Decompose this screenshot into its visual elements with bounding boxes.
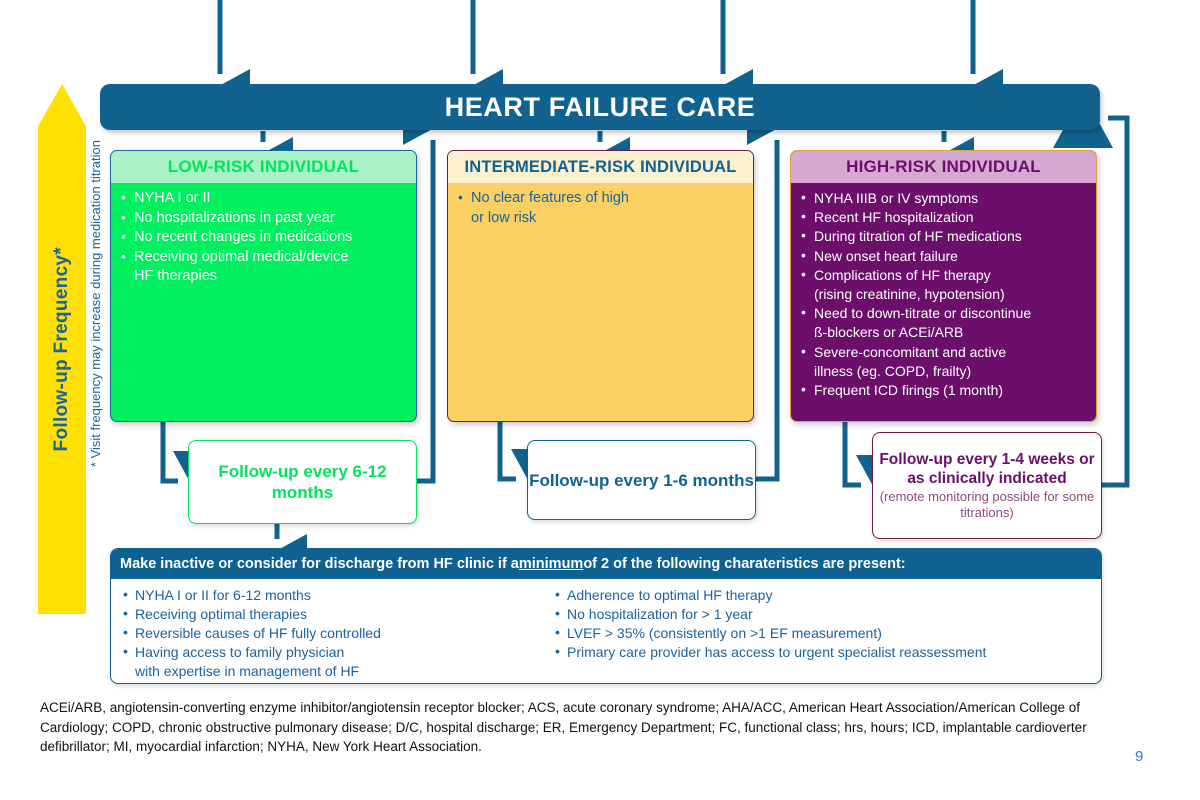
followup-frequency-label: Follow-up Frequency* (51, 247, 73, 451)
list-item: During titration of HF medications (801, 227, 1088, 246)
low-risk-body: NYHA I or II No hospitalizations in past… (111, 183, 416, 291)
intermediate-risk-bullet-list: No clear features of high or low risk (458, 189, 745, 228)
high-risk-bullet-list: NYHA IIIB or IV symptoms Recent HF hospi… (801, 189, 1088, 400)
visit-frequency-note: * Visit frequency may increase during me… (88, 140, 103, 467)
list-item: Adherence to optimal HF therapy (555, 586, 1101, 605)
list-item: Complications of HF therapy (rising crea… (801, 266, 1088, 304)
discharge-title-underlined: minimum (519, 556, 583, 572)
discharge-criteria-columns: NYHA I or II for 6-12 months Receiving o… (111, 579, 1101, 681)
page-number: 9 (1135, 748, 1143, 765)
followup-frequency-label-wrap: Follow-up Frequency* (38, 84, 86, 614)
list-item: Having access to family physician with e… (123, 643, 543, 681)
low-risk-box: LOW-RISK INDIVIDUAL NYHA I or II No hosp… (110, 150, 417, 422)
discharge-criteria-box: Make inactive or consider for discharge … (110, 548, 1102, 684)
abbreviations-footnote: ACEi/ARB, angiotensin-converting enzyme … (40, 698, 1120, 757)
intermediate-risk-box: INTERMEDIATE-RISK INDIVIDUAL No clear fe… (447, 150, 754, 422)
high-risk-followup-text: Follow-up every 1-4 weeks or as clinical… (873, 450, 1101, 488)
heart-failure-care-header: HEART FAILURE CARE (100, 84, 1100, 130)
discharge-right-list: Adherence to optimal HF therapy No hospi… (555, 586, 1101, 662)
intermediate-risk-heading: INTERMEDIATE-RISK INDIVIDUAL (448, 151, 753, 183)
discharge-title-after: of 2 of the following charateristics are… (583, 556, 905, 572)
list-item: LVEF > 35% (consistently on >1 EF measur… (555, 624, 1101, 643)
discharge-left-list: NYHA I or II for 6-12 months Receiving o… (123, 586, 543, 681)
discharge-right-column: Adherence to optimal HF therapy No hospi… (543, 586, 1101, 681)
low-risk-followup-text: Follow-up every 6-12 months (189, 461, 416, 503)
high-risk-heading: HIGH-RISK INDIVIDUAL (791, 151, 1096, 183)
list-item: Need to down-titrate or discontinue ß-bl… (801, 304, 1088, 342)
high-risk-body: NYHA IIIB or IV symptoms Recent HF hospi… (791, 183, 1096, 404)
header-title: HEART FAILURE CARE (445, 92, 756, 123)
high-risk-followup-box: Follow-up every 1-4 weeks or as clinical… (872, 432, 1102, 539)
low-risk-heading: LOW-RISK INDIVIDUAL (111, 151, 416, 183)
discharge-criteria-title: Make inactive or consider for discharge … (111, 549, 1101, 579)
list-item: No clear features of high or low risk (458, 189, 745, 228)
list-item: NYHA I or II for 6-12 months (123, 586, 543, 605)
list-item: Receiving optimal therapies (123, 605, 543, 624)
list-item: New onset heart failure (801, 247, 1088, 266)
intermediate-risk-body: No clear features of high or low risk (448, 183, 753, 232)
low-risk-bullet-list: NYHA I or II No hospitalizations in past… (121, 189, 408, 287)
list-item: Severe-concomitant and active illness (e… (801, 343, 1088, 381)
list-item: Recent HF hospitalization (801, 208, 1088, 227)
discharge-title-before: Make inactive or consider for discharge … (120, 556, 519, 572)
list-item: Primary care provider has access to urge… (555, 643, 1101, 662)
high-risk-followup-subtext: (remote monitoring possible for some tit… (873, 489, 1101, 521)
intermediate-risk-followup-text: Follow-up every 1-6 months (529, 470, 754, 491)
low-risk-followup-box: Follow-up every 6-12 months (188, 440, 417, 524)
list-item: NYHA I or II (121, 189, 408, 209)
discharge-left-column: NYHA I or II for 6-12 months Receiving o… (111, 586, 543, 681)
high-risk-box: HIGH-RISK INDIVIDUAL NYHA IIIB or IV sym… (790, 150, 1097, 422)
intermediate-risk-followup-box: Follow-up every 1-6 months (527, 440, 756, 520)
list-item: Reversible causes of HF fully controlled (123, 624, 543, 643)
list-item: NYHA IIIB or IV symptoms (801, 189, 1088, 208)
list-item: No recent changes in medications (121, 228, 408, 248)
diagram-canvas: Follow-up Frequency* * Visit frequency m… (0, 0, 1200, 800)
list-item: Frequent ICD firings (1 month) (801, 381, 1088, 400)
list-item: Receiving optimal medical/device HF ther… (121, 248, 408, 287)
list-item: No hospitalization for > 1 year (555, 605, 1101, 624)
list-item: No hospitalizations in past year (121, 209, 408, 229)
visit-frequency-note-wrap: * Visit frequency may increase during me… (84, 140, 106, 620)
